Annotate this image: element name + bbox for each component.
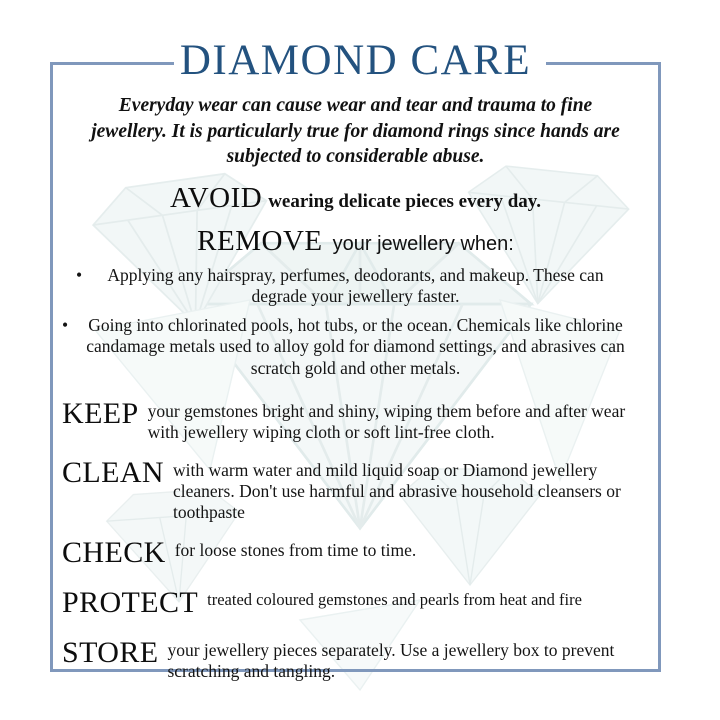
- bullet-icon: •: [76, 265, 82, 287]
- section-check: CHECK for loose stones from time to time…: [50, 537, 661, 568]
- clean-keyword: CLEAN: [62, 457, 164, 488]
- protect-keyword: PROTECT: [62, 587, 198, 618]
- keep-text: your gemstones bright and shiny, wiping …: [139, 398, 655, 443]
- remove-text: your jewellery when:: [323, 233, 514, 255]
- keep-keyword: KEEP: [62, 398, 139, 429]
- check-keyword: CHECK: [62, 537, 166, 568]
- clean-text: with warm water and mild liquid soap or …: [164, 457, 655, 523]
- protect-text: treated coloured gemstones and pearls fr…: [198, 587, 655, 610]
- section-protect: PROTECT treated coloured gemstones and p…: [50, 587, 661, 618]
- check-text: for loose stones from time to time.: [166, 537, 655, 561]
- poster-content: DIAMOND CARE Everyday wear can cause wea…: [50, 36, 661, 682]
- store-text: your jewellery pieces separately. Use a …: [158, 637, 655, 682]
- remove-keyword: REMOVE: [197, 225, 322, 257]
- list-item-text: Going into chlorinated pools, hot tubs, …: [86, 315, 624, 378]
- list-item: • Going into chlorinated pools, hot tubs…: [80, 315, 631, 380]
- section-store: STORE your jewellery pieces separately. …: [50, 637, 661, 682]
- section-keep: KEEP your gemstones bright and shiny, wi…: [50, 398, 661, 443]
- intro-paragraph: Everyday wear can cause wear and tear an…: [84, 93, 627, 170]
- bullet-icon: •: [62, 315, 68, 337]
- section-clean: CLEAN with warm water and mild liquid so…: [50, 457, 661, 523]
- avoid-keyword: AVOID: [170, 182, 262, 214]
- avoid-line: AVOIDwearing delicate pieces every day.: [50, 183, 661, 213]
- store-keyword: STORE: [62, 637, 158, 668]
- list-item: • Applying any hairspray, perfumes, deod…: [94, 265, 617, 308]
- remove-line: REMOVEyour jewellery when:: [50, 226, 661, 256]
- page-title: DIAMOND CARE: [50, 36, 661, 88]
- remove-bullet-list: • Applying any hairspray, perfumes, deod…: [50, 265, 661, 380]
- avoid-text: wearing delicate pieces every day.: [262, 191, 541, 212]
- list-item-text: Applying any hairspray, perfumes, deodor…: [107, 265, 603, 307]
- diamond-care-poster: DIAMOND CARE Everyday wear can cause wea…: [0, 0, 720, 720]
